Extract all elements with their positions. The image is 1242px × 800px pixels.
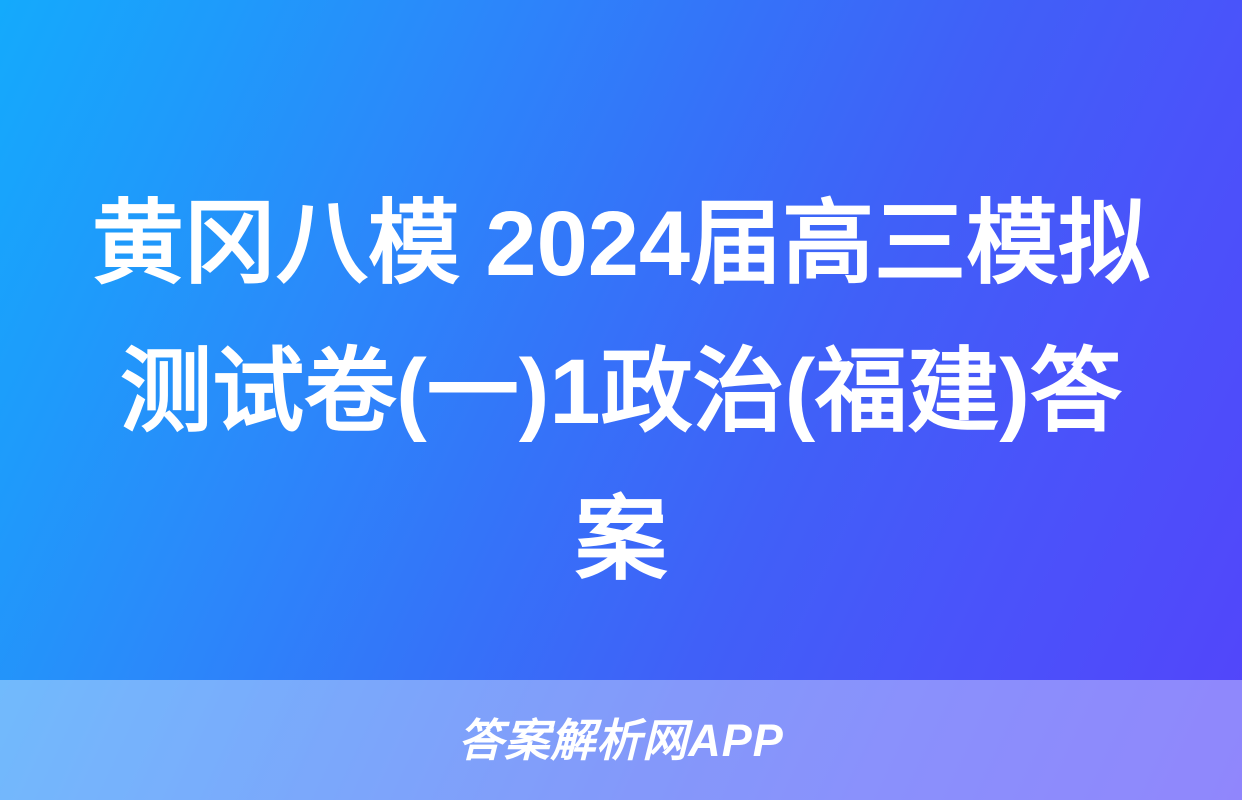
page-title-text: 黄冈八模 2024届高三模拟测试卷(一)1政治(福建)答案 <box>78 170 1164 614</box>
page-title: 黄冈八模 2024届高三模拟测试卷(一)1政治(福建)答案 <box>0 170 1242 614</box>
answer-cover-card: 黄冈八模 2024届高三模拟测试卷(一)1政治(福建)答案 答案解析网APP <box>0 0 1242 800</box>
app-watermark-text: 答案解析网APP <box>458 718 784 763</box>
app-watermark: 答案解析网APP <box>0 680 1242 800</box>
